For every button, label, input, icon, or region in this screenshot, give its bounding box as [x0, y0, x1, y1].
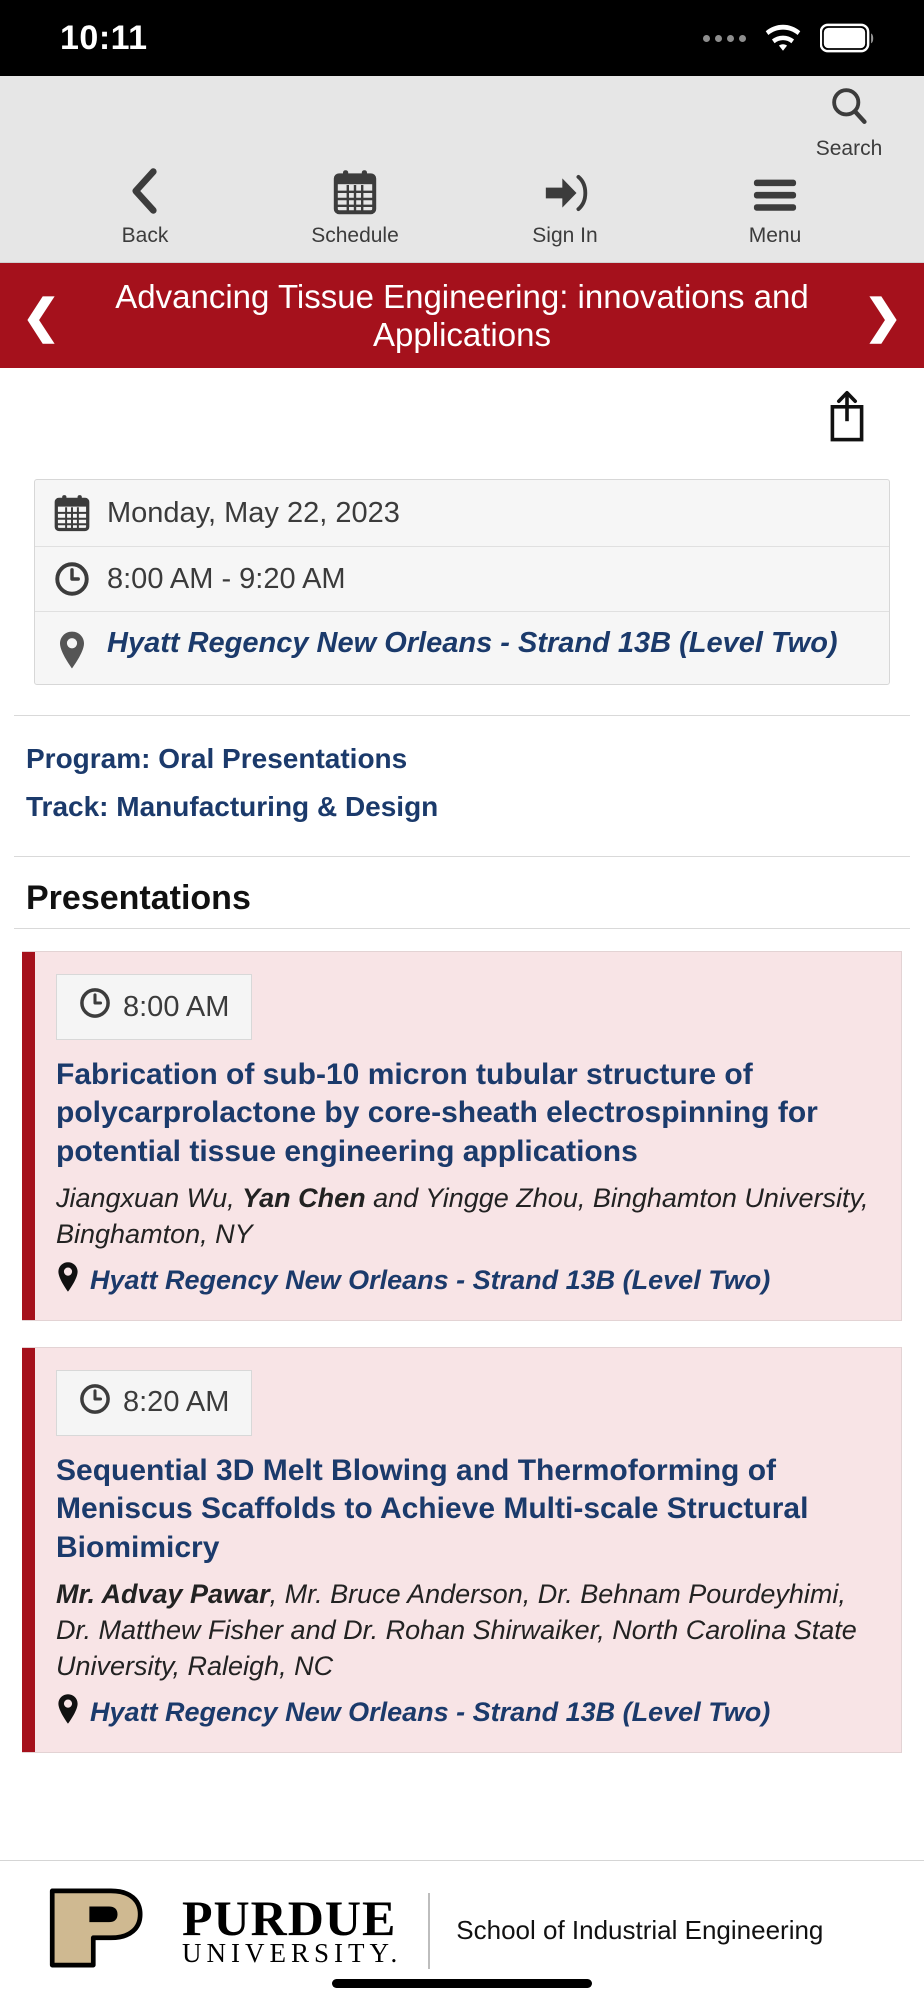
purdue-brand-line1: PURDUE	[182, 1895, 402, 1941]
toolbar-label-back: Back	[122, 224, 169, 248]
back-chevron-icon	[124, 167, 166, 220]
presentation-venue-row[interactable]: Hyatt Regency New Orleans - Strand 13B (…	[56, 1261, 875, 1300]
session-date-row: Monday, May 22, 2023	[35, 480, 889, 547]
toolbar-label-menu: Menu	[749, 224, 802, 248]
map-pin-icon	[56, 1261, 80, 1300]
session-venue-row[interactable]: Hyatt Regency New Orleans - Strand 13B (…	[35, 612, 889, 684]
status-time: 10:11	[60, 19, 148, 58]
presentation-card[interactable]: 8:00 AM Fabrication of sub-10 micron tub…	[22, 951, 902, 1321]
app-screen: 10:11 Search	[0, 0, 924, 2000]
status-indicators	[703, 23, 876, 53]
presentation-authors: Mr. Advay Pawar, Mr. Bruce Anderson, Dr.…	[56, 1577, 875, 1685]
presentation-title[interactable]: Fabrication of sub-10 micron tubular str…	[56, 1056, 875, 1171]
chevron-left-icon[interactable]: ❮	[18, 293, 64, 339]
presentation-venue[interactable]: Hyatt Regency New Orleans - Strand 13B (…	[90, 1697, 770, 1728]
toolbar-label-signin: Sign In	[532, 224, 597, 248]
session-meta: Program: Oral Presentations Track: Manuf…	[0, 716, 924, 852]
signal-dots-icon	[703, 35, 746, 42]
presentation-authors: Jiangxuan Wu, Yan Chen and Yingge Zhou, …	[56, 1181, 875, 1253]
presentation-time: 8:20 AM	[123, 1386, 229, 1419]
clock-icon	[79, 987, 111, 1027]
purdue-wordmark: PURDUE UNIVERSITY.	[182, 1895, 402, 1966]
hamburger-menu-icon	[752, 175, 798, 220]
footer-school-name: School of Industrial Engineering	[456, 1915, 823, 1946]
toolbar-item-menu[interactable]: Menu	[670, 175, 880, 248]
toolbar-item-back[interactable]: Back	[40, 167, 250, 248]
authors-prefix: Jiangxuan Wu,	[56, 1183, 242, 1213]
toolbar-item-schedule[interactable]: Schedule	[250, 169, 460, 248]
presentations-heading: Presentations	[0, 857, 924, 928]
purdue-logo: PURDUE UNIVERSITY.	[46, 1885, 402, 1976]
clock-icon	[79, 1383, 111, 1423]
toolbar-label-search: Search	[816, 137, 883, 161]
wifi-icon	[764, 24, 802, 52]
presentation-card[interactable]: 8:20 AM Sequential 3D Melt Blowing and T…	[22, 1347, 902, 1753]
map-pin-icon	[56, 1693, 80, 1732]
session-banner: ❮ Advancing Tissue Engineering: innovati…	[0, 263, 924, 368]
map-pin-icon	[53, 626, 91, 670]
session-time: 8:00 AM - 9:20 AM	[107, 563, 346, 596]
status-bar: 10:11	[0, 0, 924, 76]
presentation-time-chip: 8:20 AM	[56, 1370, 252, 1436]
authors-presenter: Yan Chen	[242, 1183, 366, 1213]
purdue-brand-line2: UNIVERSITY.	[182, 1941, 402, 1966]
battery-icon	[820, 23, 876, 53]
authors-presenter: Mr. Advay Pawar	[56, 1579, 270, 1609]
presentation-time-chip: 8:00 AM	[56, 974, 252, 1040]
toolbar-item-signin[interactable]: Sign In	[460, 171, 670, 248]
session-info-card: Monday, May 22, 2023 8:00 AM - 9:20 AM H…	[34, 479, 890, 685]
chevron-right-icon[interactable]: ❯	[860, 293, 906, 339]
footer-divider	[428, 1893, 430, 1969]
share-row	[0, 368, 924, 457]
clock-icon	[53, 561, 91, 597]
calendar-icon	[333, 169, 377, 220]
program-line[interactable]: Program: Oral Presentations	[26, 738, 898, 780]
presentations-list: 8:00 AM Fabrication of sub-10 micron tub…	[0, 929, 924, 1753]
presentation-time: 8:00 AM	[123, 991, 229, 1024]
share-icon[interactable]	[826, 390, 868, 447]
toolbar-label-schedule: Schedule	[311, 224, 399, 248]
home-indicator[interactable]	[332, 1979, 592, 1988]
toolbar-item-search[interactable]: Search	[810, 84, 888, 161]
track-line[interactable]: Track: Manufacturing & Design	[26, 786, 898, 828]
app-toolbar: Search Back	[0, 76, 924, 263]
sign-in-icon	[542, 171, 588, 220]
session-date: Monday, May 22, 2023	[107, 497, 400, 530]
purdue-p-logo-icon	[46, 1885, 164, 1976]
presentation-title[interactable]: Sequential 3D Melt Blowing and Thermofor…	[56, 1452, 875, 1567]
session-title: Advancing Tissue Engineering: innovation…	[64, 278, 860, 353]
session-venue[interactable]: Hyatt Regency New Orleans - Strand 13B (…	[107, 626, 838, 661]
presentation-venue[interactable]: Hyatt Regency New Orleans - Strand 13B (…	[90, 1265, 770, 1296]
calendar-icon	[53, 494, 91, 532]
presentation-venue-row[interactable]: Hyatt Regency New Orleans - Strand 13B (…	[56, 1693, 875, 1732]
search-icon	[827, 84, 871, 133]
session-time-row: 8:00 AM - 9:20 AM	[35, 547, 889, 612]
